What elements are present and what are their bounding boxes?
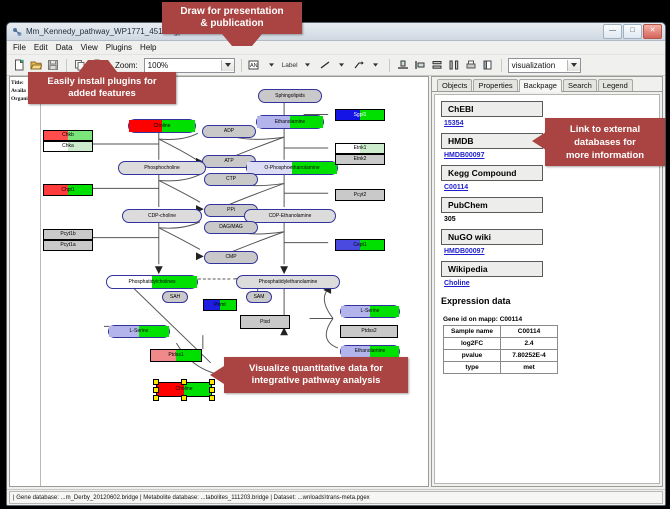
tab-search[interactable]: Search — [563, 79, 597, 91]
save-icon[interactable] — [46, 58, 60, 72]
node-label: ADP — [224, 129, 234, 134]
db-value-pubchem: 305 — [444, 216, 653, 223]
window-titlebar: Mm_Kennedy_pathway_WP1771_45176.gpml — □… — [7, 23, 665, 41]
node-ctp[interactable]: CTP — [204, 173, 258, 186]
stack-horizontal-icon[interactable] — [430, 58, 444, 72]
node-label: Ethanolamine — [275, 120, 306, 125]
selection-handle-n[interactable] — [181, 379, 187, 385]
node-sgpl1[interactable]: Sgpl1 — [335, 109, 385, 121]
node-label: Etnk1 — [354, 146, 367, 151]
line-tool-icon[interactable] — [318, 58, 332, 72]
callout-plugins-line1: Easily install plugins for — [47, 76, 156, 88]
minimize-button[interactable]: — — [603, 24, 622, 39]
node-sphingolipids[interactable]: Sphingolipids — [258, 89, 322, 103]
db-link-kegg-compound[interactable]: C00114 — [444, 184, 653, 191]
tab-backpage[interactable]: Backpage — [519, 79, 562, 92]
table-cell-key: Sample name — [444, 326, 501, 338]
align-bottom-icon[interactable] — [396, 58, 410, 72]
callout-plugins-line2: added features — [68, 88, 136, 100]
table-cell-value: 7.80252E-4 — [501, 350, 558, 362]
db-header-kegg-compound: Kegg Compound — [441, 165, 543, 181]
status-text: | Gene database: ...m_Derby_20120602.bri… — [9, 491, 663, 504]
close-button[interactable]: ✕ — [643, 24, 662, 39]
selection-handle-se[interactable] — [209, 395, 215, 401]
db-header-hmdb: HMDB — [441, 133, 543, 149]
node-label: O-Phosphoethanolamine — [264, 166, 319, 171]
db-header-chebi: ChEBI — [441, 101, 543, 117]
menu-item-view[interactable]: View — [81, 43, 98, 52]
datanode-icon[interactable]: AN — [248, 58, 262, 72]
node-cept1[interactable]: Cept1 — [335, 239, 385, 251]
callout-plugins: Easily install plugins for added feature… — [28, 72, 176, 104]
node-cdp-choline[interactable]: CDP-choline — [122, 209, 202, 223]
node-choline[interactable]: Choline — [128, 119, 196, 133]
callout-links-arrow — [532, 132, 546, 150]
arrow-dropdown-icon[interactable] — [369, 58, 383, 72]
label-dropdown-icon[interactable] — [301, 58, 315, 72]
callout-draw-line2: & publication — [200, 18, 263, 30]
node-label: Pcyt1a — [60, 243, 75, 248]
db-link-wikipedia[interactable]: Choline — [444, 280, 653, 287]
node-l-serine-right[interactable]: L-Serine — [340, 305, 400, 318]
menubar: File Edit Data View Plugins Help — [7, 41, 665, 55]
node-pcyt1a[interactable]: Pcyt1a — [43, 240, 93, 251]
expression-data-heading: Expression data — [441, 296, 653, 306]
node-label: ATP — [224, 159, 233, 164]
table-row: type met — [444, 362, 558, 374]
db-header-pubchem: PubChem — [441, 197, 543, 213]
zoom-value: 100% — [148, 61, 168, 70]
node-label: Pemt — [214, 303, 226, 308]
toolbar-divider-3 — [389, 59, 390, 72]
node-label: SAH — [170, 295, 180, 300]
distribute-icon[interactable] — [447, 58, 461, 72]
window-controls: — □ ✕ — [603, 24, 662, 39]
node-label: Sphingolipids — [275, 94, 305, 99]
callout-plugins-arrow — [78, 60, 118, 73]
toolbar-divider-2 — [241, 59, 242, 72]
node-label: Phosphatidylcholines — [129, 280, 176, 285]
db-header-wikipedia: Wikipedia — [441, 261, 543, 277]
node-pisd[interactable]: Pisd — [240, 315, 290, 329]
db-link-nugo-wiki[interactable]: HMDB00097 — [444, 248, 653, 255]
chevron-down-icon[interactable] — [221, 60, 234, 71]
node-ptdss2[interactable]: Ptdss2 — [340, 325, 398, 338]
node-phosphocholine[interactable]: Phosphocholine — [118, 161, 206, 175]
new-file-icon[interactable] — [12, 58, 26, 72]
table-cell-value: C00114 — [501, 326, 558, 338]
node-etnk2[interactable]: Etnk2 — [335, 154, 385, 165]
node-label: SAM — [254, 295, 265, 300]
node-label: Chka — [62, 144, 74, 149]
node-label: Ptdss1 — [168, 353, 183, 358]
node-phosphatidylcholines[interactable]: Phosphatidylcholines — [106, 275, 198, 289]
callout-links-line1: Link to external — [570, 123, 640, 136]
node-ptdss1[interactable]: Ptdss1 — [150, 349, 202, 362]
table-cell-key: pvalue — [444, 350, 501, 362]
node-label: Phosphatidylethanolamine — [259, 280, 318, 285]
datanode-dropdown-icon[interactable] — [265, 58, 279, 72]
node-label: Pisd — [260, 320, 270, 325]
node-label: CDP-choline — [148, 214, 176, 219]
table-row: log2FC 2.4 — [444, 338, 558, 350]
selection-handle-w[interactable] — [153, 387, 159, 393]
node-label: L-Serine — [130, 329, 149, 334]
expression-table: Sample name C00114 log2FC 2.4 pvalue 7.8… — [443, 325, 558, 374]
zoom-label: Zoom: — [115, 61, 138, 70]
node-label: L-Serine — [361, 309, 380, 314]
node-label: Sgpl1 — [354, 113, 367, 118]
selection-handle-s[interactable] — [181, 395, 187, 401]
visualization-value: visualization — [512, 61, 556, 70]
table-cell-value: 2.4 — [501, 338, 558, 350]
menu-item-plugins[interactable]: Plugins — [106, 43, 132, 52]
menu-item-help[interactable]: Help — [140, 43, 156, 52]
open-folder-icon[interactable] — [29, 58, 43, 72]
node-chpt1[interactable]: Chpt1 — [43, 184, 93, 196]
callout-visualize-line1: Visualize quantitative data for — [249, 363, 383, 375]
toolbar-divider — [66, 59, 67, 72]
zoom-combo[interactable]: 100% — [144, 58, 235, 73]
arrow-tool-icon[interactable] — [352, 58, 366, 72]
node-label: Ptdss2 — [361, 329, 376, 334]
node-label: Etnk2 — [354, 157, 367, 162]
selection-handle-e[interactable] — [209, 387, 215, 393]
node-etnk1[interactable]: Etnk1 — [335, 143, 385, 154]
visualization-chevron-down-icon[interactable] — [567, 60, 580, 71]
table-cell-key: log2FC — [444, 338, 501, 350]
table-row: Sample name C00114 — [444, 326, 558, 338]
node-chkb[interactable]: Chkb — [43, 130, 93, 141]
tab-properties[interactable]: Properties — [473, 79, 517, 91]
node-sah[interactable]: SAH — [162, 291, 188, 303]
node-ethanolamine[interactable]: Ethanolamine — [256, 115, 324, 129]
node-label: CDP-Ethanolamine — [269, 214, 312, 219]
print-icon[interactable] — [464, 58, 478, 72]
selection-handle-sw[interactable] — [153, 395, 159, 401]
node-pemt[interactable]: Pemt — [203, 299, 237, 311]
menu-item-edit[interactable]: Edit — [34, 43, 48, 52]
node-dag-mag[interactable]: DAG/MAG — [204, 221, 258, 234]
node-label: Choline — [176, 387, 193, 392]
node-label: PPi — [227, 208, 235, 213]
callout-draw: Draw for presentation & publication — [162, 2, 302, 34]
toolbar-divider-4 — [501, 59, 502, 72]
legend-icon[interactable] — [481, 58, 495, 72]
node-label: CTP — [226, 177, 236, 182]
svg-text:AN: AN — [250, 63, 258, 69]
maximize-button[interactable]: □ — [623, 24, 642, 39]
callout-links-line2: databases for — [574, 136, 636, 149]
table-cell-value: met — [501, 362, 558, 374]
node-label: Phosphocholine — [144, 166, 180, 171]
node-chka[interactable]: Chka — [43, 141, 93, 152]
node-cdp-ethanolamine[interactable]: CDP-Ethanolamine — [244, 209, 336, 223]
node-sam[interactable]: SAM — [246, 291, 272, 303]
sidebar-tabs: Objects Properties Backpage Search Legen… — [432, 77, 662, 92]
db-header-nugo-wiki: NuGO wiki — [441, 229, 543, 245]
table-cell-key: type — [444, 362, 501, 374]
node-adp[interactable]: ADP — [202, 125, 256, 138]
status-bar: | Gene database: ...m_Derby_20120602.bri… — [7, 489, 665, 505]
pathvisio-icon — [12, 27, 22, 37]
node-label: CMP — [225, 255, 236, 260]
node-pcyt1b[interactable]: Pcyt1b — [43, 229, 93, 240]
callout-visualize: Visualize quantitative data for integrat… — [224, 357, 408, 393]
node-label: Cept1 — [353, 243, 366, 248]
node-o-phosphoethanolamine[interactable]: O-Phosphoethanolamine — [246, 161, 338, 175]
pathway-canvas[interactable]: Title: Availa Organi — [9, 76, 429, 487]
visualization-combo[interactable]: visualization — [508, 58, 581, 73]
node-cmp[interactable]: CMP — [204, 251, 258, 264]
node-label: Chpt1 — [61, 188, 74, 193]
menu-item-data[interactable]: Data — [56, 43, 73, 52]
callout-visualize-line2: integrative pathway analysis — [252, 375, 381, 387]
canvas-margin-line — [40, 77, 41, 486]
callout-links-line3: more information — [566, 149, 644, 162]
align-left-icon[interactable] — [413, 58, 427, 72]
node-l-serine-left[interactable]: L-Serine — [108, 325, 170, 338]
node-label: Pcyt1b — [60, 232, 75, 237]
gene-id-line: Gene id on mapp: C00114 — [443, 316, 653, 323]
tab-objects[interactable]: Objects — [437, 79, 472, 91]
callout-visualize-arrow — [210, 366, 224, 384]
node-pcyt2[interactable]: Pcyt2 — [335, 189, 385, 201]
screenshot-root: Mm_Kennedy_pathway_WP1771_45176.gpml — □… — [0, 0, 670, 509]
selection-handle-nw[interactable] — [153, 379, 159, 385]
menu-item-file[interactable]: File — [13, 43, 26, 52]
node-label: Pcyt2 — [354, 193, 367, 198]
callout-draw-line1: Draw for presentation — [180, 6, 283, 18]
node-label: Choline — [154, 124, 171, 129]
callout-links: Link to external databases for more info… — [545, 118, 665, 166]
tab-legend[interactable]: Legend — [598, 79, 633, 91]
label-tool-label[interactable]: Label — [282, 62, 298, 69]
node-label: Ethanolamine — [355, 349, 386, 354]
node-label: DAG/MAG — [219, 225, 243, 230]
node-label: Chkb — [62, 133, 74, 138]
callout-draw-arrow — [222, 34, 262, 46]
node-phosphatidylethanolamine[interactable]: Phosphatidylethanolamine — [236, 275, 340, 289]
table-row: pvalue 7.80252E-4 — [444, 350, 558, 362]
line-dropdown-icon[interactable] — [335, 58, 349, 72]
